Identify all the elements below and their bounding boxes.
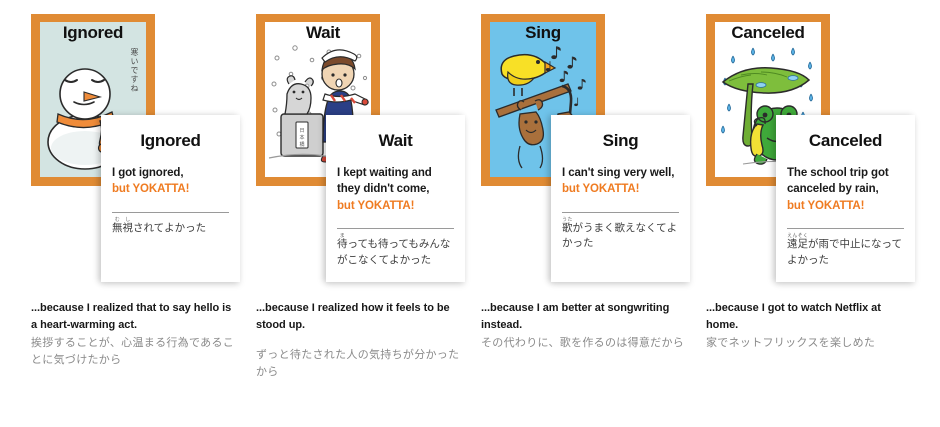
ruby-group: 遠足えんそく [787, 238, 808, 250]
text-card-title-wait: Wait [337, 131, 454, 151]
caption-english-canceled: ...because I got to watch Netflix at hom… [706, 300, 911, 334]
ruby-base: 歌 [562, 222, 573, 234]
text-card-ignored[interactable]: Ignored I got ignored, but YOKATTA! 無視むし… [101, 115, 240, 282]
english-line-1: I can't sing [562, 167, 620, 179]
caption-ignored: ...because I realized that to say hello … [31, 300, 236, 368]
picture-title-ignored: Ignored [40, 24, 146, 43]
japanese-rest: っても待ってもみんながこなくてよかった [337, 238, 450, 266]
caption-japanese-canceled: 家でネットフリックスを楽しめた [706, 334, 911, 351]
text-card-sing[interactable]: Sing I can't sing very well, but YOKATTA… [551, 115, 690, 282]
english-line-2: they didn't come, [337, 183, 429, 195]
picture-title-sing: Sing [490, 24, 596, 43]
svg-text:橋: 橋 [299, 141, 304, 148]
english-line-1: The school trip got [787, 167, 889, 179]
card-group-sing: Sing [458, 0, 683, 427]
ruby-base: 待 [337, 238, 348, 250]
english-line-1: I got ignored, [112, 167, 183, 179]
english-line-1: I kept waiting and [337, 167, 432, 179]
card-group-wait: Wait 日 [233, 0, 458, 427]
ruby-reading: むし [112, 217, 133, 223]
picture-title-canceled: Canceled [715, 24, 821, 43]
yokatta-line: but YOKATTA! [562, 181, 679, 197]
text-card-japanese-wait: 待まっても待ってもみんながこなくてよかった [337, 233, 454, 269]
text-card-title-canceled: Canceled [787, 131, 904, 151]
text-card-english-wait: I kept waiting and they didn't come, but… [337, 165, 454, 214]
divider [562, 212, 679, 213]
card-gallery: Ignored 寒いですね [0, 0, 940, 427]
ruby-reading: ま [337, 233, 347, 239]
svg-text:日: 日 [299, 128, 304, 134]
svg-text:本: 本 [299, 134, 304, 141]
text-card-english-canceled: The school trip got canceled by rain, bu… [787, 165, 904, 214]
yokatta-line: but YOKATTA! [787, 198, 904, 214]
text-card-wait[interactable]: Wait I kept waiting and they didn't come… [326, 115, 465, 282]
text-card-english-ignored: I got ignored, but YOKATTA! [112, 165, 229, 198]
caption-japanese-ignored: 挨拶することが、心温まる行為であることに気づけたから [31, 334, 236, 368]
yokatta-line: but YOKATTA! [337, 198, 454, 214]
yokatta-line: but YOKATTA! [112, 181, 229, 197]
caption-sing: ...because I am better at songwriting in… [481, 300, 686, 351]
text-card-title-sing: Sing [562, 131, 679, 151]
ruby-base: 遠足 [787, 238, 808, 250]
ruby-base: 無視 [112, 222, 133, 234]
card-group-canceled: Canceled [683, 0, 908, 427]
text-card-japanese-canceled: 遠足えんそくが雨で中止になってよかった [787, 233, 904, 269]
text-card-japanese-sing: 歌うたがうまく歌えなくてよかった [562, 217, 679, 253]
english-line-2: canceled by rain, [787, 183, 879, 195]
japanese-rest: がうまく歌えなくてよかった [562, 222, 677, 250]
ruby-reading: うた [562, 217, 572, 223]
ruby-group: 待ま [337, 238, 348, 250]
japanese-rest: されてよかった [133, 222, 206, 234]
caption-japanese-wait: ずっと待たされた人の気持ちが分かったから [256, 346, 461, 380]
divider [787, 228, 904, 229]
caption-japanese-sing: その代わりに、歌を作るのは得意だから [481, 334, 686, 351]
picture-sidenote-ignored: 寒いですね [129, 48, 140, 93]
ruby-group: 歌うた [562, 222, 573, 234]
english-line-2: very well, [624, 167, 675, 179]
caption-wait: ...because I realized how it feels to be… [256, 300, 461, 380]
caption-english-sing: ...because I am better at songwriting in… [481, 300, 686, 334]
ruby-group: 無視むし [112, 222, 133, 234]
text-card-canceled[interactable]: Canceled The school trip got canceled by… [776, 115, 915, 282]
caption-canceled: ...because I got to watch Netflix at hom… [706, 300, 911, 351]
ruby-reading: えんそく [787, 233, 808, 239]
text-card-english-sing: I can't sing very well, but YOKATTA! [562, 165, 679, 198]
divider [337, 228, 454, 229]
caption-english-wait: ...because I realized how it feels to be… [256, 300, 461, 334]
caption-english-ignored: ...because I realized that to say hello … [31, 300, 236, 334]
text-card-japanese-ignored: 無視むしされてよかった [112, 217, 229, 237]
divider [112, 212, 229, 213]
text-card-title-ignored: Ignored [112, 131, 229, 151]
card-group-ignored: Ignored 寒いですね [8, 0, 233, 427]
picture-title-wait: Wait [265, 24, 371, 43]
